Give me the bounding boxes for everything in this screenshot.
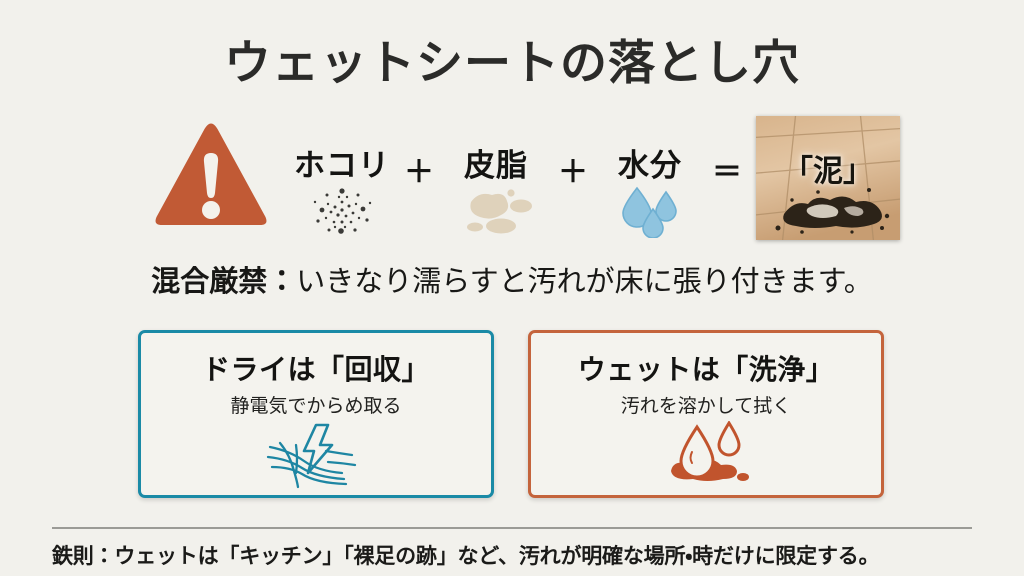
muddy-floor-photo: 「泥」 [756, 116, 900, 240]
droplet-puddle-icon [531, 421, 881, 493]
formula-term-dust: ホコリ [288, 116, 396, 240]
formula-term-sebum: 皮脂 [442, 116, 550, 240]
card-title: ドライは「回収」 [141, 348, 491, 388]
photo-caption: 「泥」 [756, 146, 900, 190]
card-wet[interactable]: ウェットは「洗浄」 汚れを溶かして拭く [528, 330, 884, 498]
formula-term-label: ホコリ [288, 140, 396, 185]
card-dry[interactable]: ドライは「回収」 静電気でからめ取る [138, 330, 494, 498]
formula-term-label: 皮脂 [442, 140, 550, 185]
warning-triangle-icon [150, 117, 272, 239]
footer-divider [52, 527, 972, 529]
card-title: ウェットは「洗浄」 [531, 348, 881, 388]
formula-term-label: 水分 [596, 140, 704, 185]
caution-text: いきなり濡らすと汚れが床に張り付きます。 [296, 266, 873, 298]
static-electricity-fibers-icon [141, 421, 491, 493]
slide-canvas: ウェットシートの落とし穴 ホコリ [0, 0, 1024, 576]
page-title: ウェットシートの落とし穴 [0, 24, 1024, 93]
caution-prefix: 混合厳禁： [151, 266, 296, 298]
formula-operator-plus-2: ＋ [550, 147, 596, 209]
water-droplets-icon [596, 182, 704, 238]
dust-specks-icon [288, 182, 396, 238]
formula-term-water: 水分 [596, 116, 704, 240]
formula-operator-equals: ＝ [704, 147, 750, 209]
caution-line: 混合厳禁：いきなり濡らすと汚れが床に張り付きます。 [0, 258, 1024, 300]
oil-blobs-icon [442, 182, 550, 238]
footer-text: 鉄則：ウェットは「キッチン」「裸足の跡」など、汚れが明確な場所・時だけに限定する… [52, 540, 982, 570]
card-subtitle: 汚れを溶かして拭く [531, 391, 881, 418]
formula-operator-plus-1: ＋ [396, 147, 442, 209]
formula-row: ホコリ [150, 112, 910, 244]
card-subtitle: 静電気でからめ取る [141, 391, 491, 418]
